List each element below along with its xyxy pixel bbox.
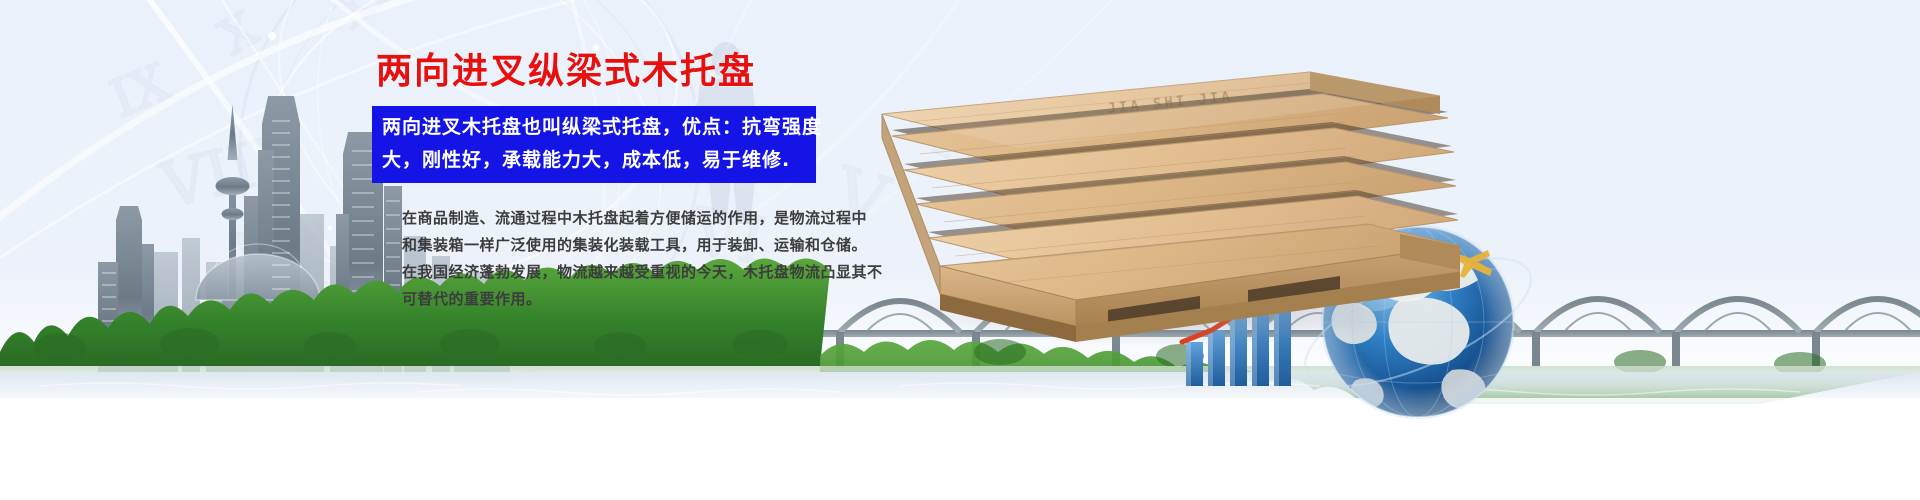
wooden-pallet-photo: JIA SHI JIA bbox=[840, 58, 1460, 348]
highlight-line-1: 两向进叉木托盘也叫纵梁式托盘，优点：抗弯强度 bbox=[382, 111, 810, 144]
highlight-line-2: 大，刚性好，承载能力大，成本低，易于维修. bbox=[382, 144, 810, 177]
page-title: 两向进叉纵梁式木托盘 bbox=[376, 52, 842, 92]
body-line-2: 和集装箱一样广泛使用的集装化装载工具，用于装卸、运输和仓储。 bbox=[372, 232, 842, 259]
body-paragraph: 在商品制造、流通过程中木托盘起着方便储运的作用，是物流过程中 和集装箱一样广泛使… bbox=[372, 205, 842, 313]
product-banner: VIII IX X XI VII VI V IV bbox=[0, 0, 1920, 500]
body-line-3: 在我国经济蓬勃发展，物流越来越受重视的今天，木托盘物流凸显其不 bbox=[372, 259, 842, 286]
body-line-1: 在商品制造、流通过程中木托盘起着方便储运的作用，是物流过程中 bbox=[372, 205, 842, 232]
body-line-4: 可替代的重要作用。 bbox=[372, 286, 842, 313]
text-block: 两向进叉纵梁式木托盘 两向进叉木托盘也叫纵梁式托盘，优点：抗弯强度 大，刚性好，… bbox=[372, 52, 842, 313]
highlight-box: 两向进叉木托盘也叫纵梁式托盘，优点：抗弯强度 大，刚性好，承载能力大，成本低，易… bbox=[372, 106, 816, 183]
